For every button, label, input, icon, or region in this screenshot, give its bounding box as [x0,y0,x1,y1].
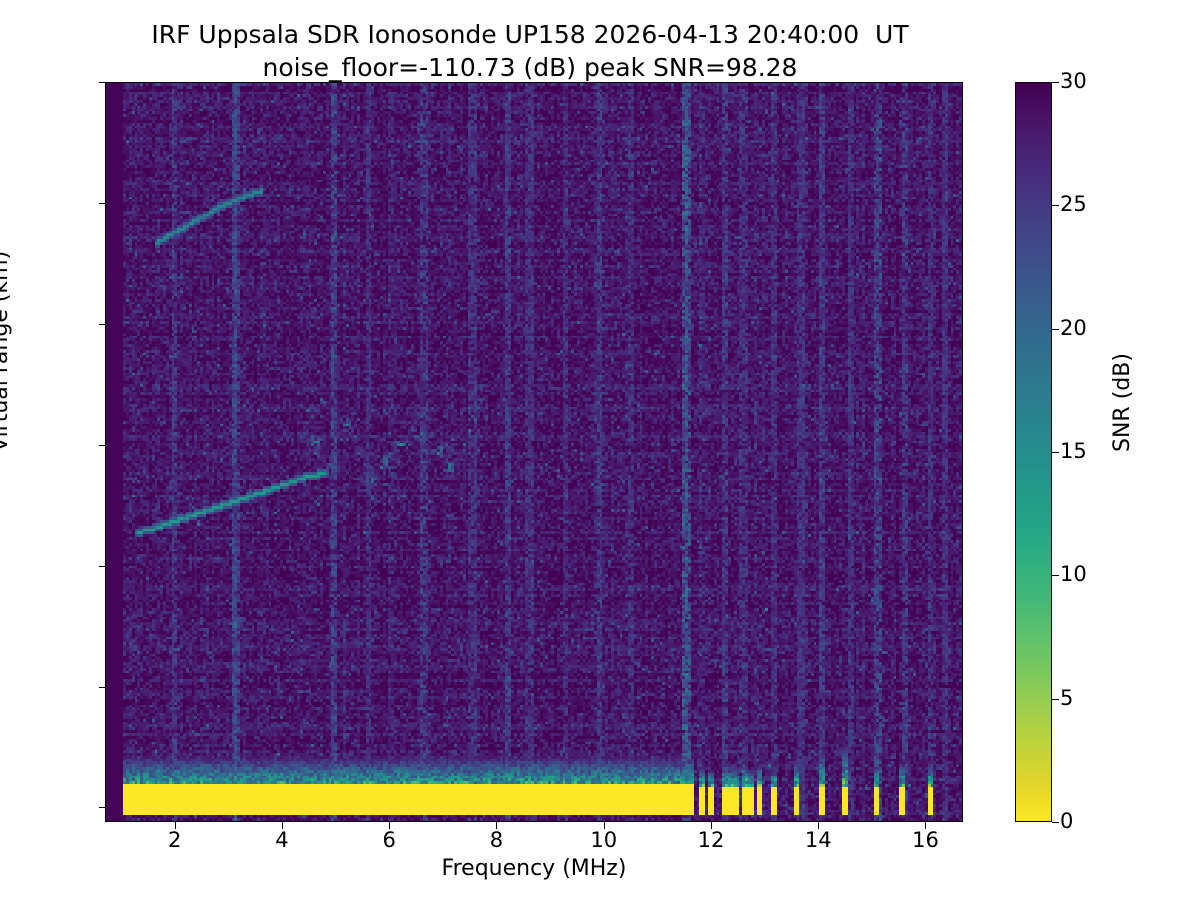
x-tick-label: 2 [135,830,215,851]
colorbar-tick-mark [1052,82,1059,83]
colorbar-tick-label: 10 [1060,564,1087,585]
ionogram-plot-area[interactable] [105,82,963,822]
x-tick-label: 10 [564,830,644,851]
colorbar-tick-label: 0 [1060,811,1073,832]
title-line-primary: IRF Uppsala SDR Ionosonde UP158 2026-04-… [0,18,1060,51]
colorbar-tick-label: 30 [1060,71,1087,92]
y-tick-mark [99,203,106,204]
x-tick-mark [925,822,926,829]
x-tick-mark [389,822,390,829]
x-tick-mark [818,822,819,829]
x-tick-mark [175,822,176,829]
x-tick-label: 8 [456,830,536,851]
colorbar-tick-mark [1052,452,1059,453]
colorbar-tick-mark [1052,575,1059,576]
x-tick-mark [496,822,497,829]
y-tick-mark [99,324,106,325]
y-axis-label: Virtual range (km) [0,251,13,452]
x-axis-label: Frequency (MHz) [105,856,963,881]
y-tick-mark [99,807,106,808]
colorbar-tick-mark [1052,822,1059,823]
colorbar-tick-mark [1052,699,1059,700]
y-tick-mark [99,445,106,446]
colorbar-tick-mark [1052,329,1059,330]
ionogram-heatmap-canvas[interactable] [106,83,962,821]
colorbar-tick-label: 20 [1060,318,1087,339]
colorbar-label: SNR (dB) [1110,353,1135,452]
title-line-secondary: noise_floor=-110.73 (dB) peak SNR=98.28 [0,51,1060,84]
ionogram-figure: IRF Uppsala SDR Ionosonde UP158 2026-04-… [0,0,1200,900]
x-tick-label: 16 [885,830,965,851]
colorbar-gradient [1016,83,1051,821]
x-tick-label: 14 [778,830,858,851]
colorbar[interactable] [1015,82,1052,822]
x-tick-label: 4 [242,830,322,851]
y-tick-mark [99,566,106,567]
x-tick-label: 12 [671,830,751,851]
x-tick-mark [282,822,283,829]
y-tick-mark [99,82,106,83]
x-tick-mark [711,822,712,829]
colorbar-tick-label: 5 [1060,688,1073,709]
y-tick-mark [99,687,106,688]
x-tick-label: 6 [349,830,429,851]
page-title: IRF Uppsala SDR Ionosonde UP158 2026-04-… [0,18,1060,84]
colorbar-tick-mark [1052,205,1059,206]
x-tick-mark [604,822,605,829]
colorbar-tick-label: 15 [1060,441,1087,462]
colorbar-tick-label: 25 [1060,194,1087,215]
